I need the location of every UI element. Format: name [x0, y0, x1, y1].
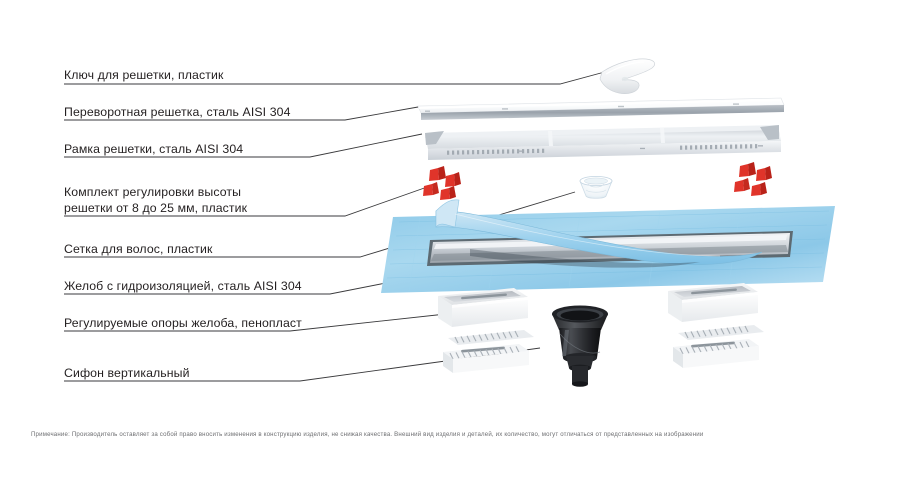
part-grate-key	[600, 59, 655, 94]
label-foam-supports: Регулируемые опоры желоба, пенопласт	[64, 316, 302, 332]
part-foam-support-left	[438, 288, 528, 327]
label-hair-strainer: Сетка для волос, пластик	[64, 242, 212, 258]
diagram-canvas: Ключ для решетки, пластик Переворотная р…	[0, 0, 900, 486]
part-hair-strainer	[580, 176, 612, 198]
label-reversible-grate: Переворотная решетка, сталь AISI 304	[64, 105, 291, 121]
part-grate-frame	[425, 125, 781, 160]
part-reversible-grate	[418, 98, 784, 120]
part-height-clips-right	[734, 162, 772, 196]
label-channel-body: Желоб с гидроизоляцией, сталь AISI 304	[64, 279, 302, 295]
label-grate-frame: Рамка решетки, сталь AISI 304	[64, 142, 243, 158]
label-height-kit-line1: Комплект регулировки высоты	[64, 185, 241, 201]
label-grate-key: Ключ для решетки, пластик	[64, 68, 223, 84]
part-vertical-siphon	[552, 306, 608, 387]
label-siphon: Сифон вертикальный	[64, 366, 190, 382]
part-waterproofing-membrane	[381, 200, 835, 293]
part-height-clips-left	[423, 166, 461, 200]
disclaimer-footnote: Примечание: Производитель оставляет за с…	[31, 430, 876, 439]
label-height-kit-line2: решетки от 8 до 25 мм, пластик	[64, 201, 247, 217]
part-foam-pad-right	[673, 325, 764, 368]
part-foam-support-right	[668, 283, 758, 322]
part-foam-pad-left	[443, 330, 534, 373]
